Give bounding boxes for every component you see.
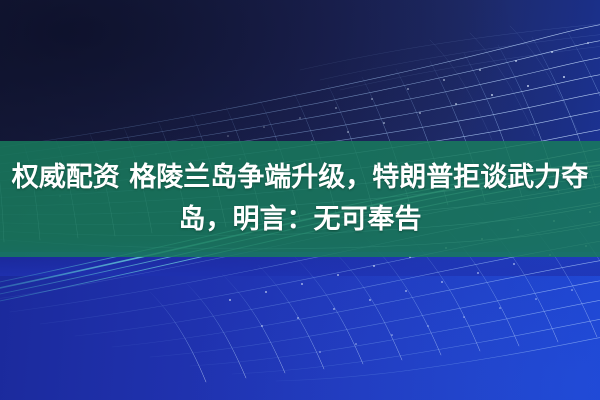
- banner-image: 权威配资 格陵兰岛争端升级，特朗普拒谈武力夺岛，明言：无可奉告: [0, 0, 600, 400]
- headline-band: 权威配资 格陵兰岛争端升级，特朗普拒谈武力夺岛，明言：无可奉告: [0, 141, 600, 257]
- headline-text: 权威配资 格陵兰岛争端升级，特朗普拒谈武力夺岛，明言：无可奉告: [6, 157, 594, 241]
